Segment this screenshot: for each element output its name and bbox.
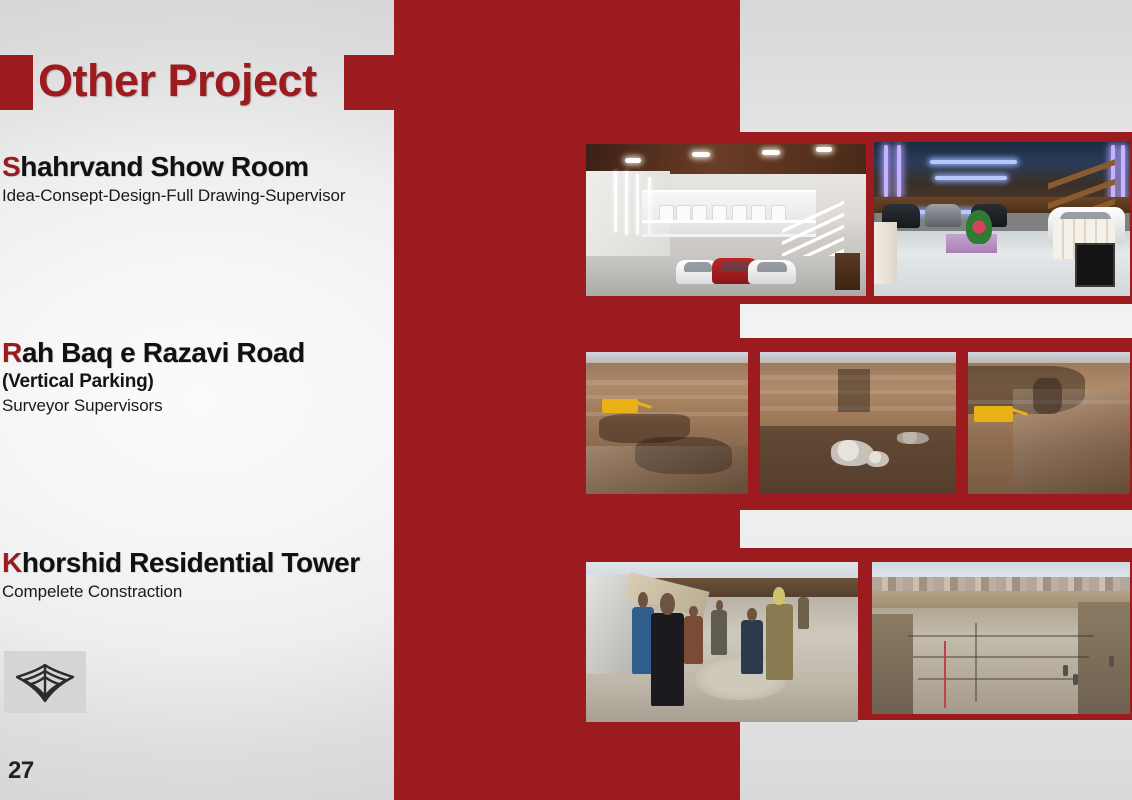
- project-subtitle-khorshid: Compelete Constraction: [2, 580, 394, 603]
- red-title-notch: [344, 55, 400, 110]
- project-initial-letter: S: [2, 151, 20, 182]
- project-initial-letter: K: [2, 547, 22, 578]
- excavation-excavator-photo: [586, 352, 748, 494]
- diamond-logo-icon: [13, 659, 77, 705]
- foundation-slab-photo: [872, 562, 1130, 714]
- project-title-shahrvand: Shahrvand Show Room: [2, 150, 394, 184]
- project-subtitle-bold-rah-baq: (Vertical Parking): [2, 370, 394, 394]
- title-accent-square: [0, 55, 33, 110]
- project-block-shahrvand: Shahrvand Show Room Idea-Consept-Design-…: [2, 150, 394, 207]
- page-number: 27: [8, 757, 34, 785]
- project-title-rest: horshid Residential Tower: [22, 547, 360, 578]
- project-block-rah-baq: Rah Baq e Razavi Road (Vertical Parking)…: [2, 336, 394, 417]
- page-title: Other Project: [38, 50, 317, 112]
- project-title-rest: hahrvand Show Room: [20, 151, 308, 182]
- showroom-interior-photo: [874, 142, 1130, 296]
- project-block-khorshid: Khorshid Residential Tower Compelete Con…: [2, 546, 394, 603]
- project-title-khorshid: Khorshid Residential Tower: [2, 546, 394, 580]
- project-subtitle-rah-baq: Surveyor Supervisors: [2, 394, 394, 417]
- company-logo: [4, 651, 86, 713]
- project-title-rest: ah Baq e Razavi Road: [22, 337, 305, 368]
- project-subtitle-shahrvand: Idea-Consept-Design-Full Drawing-Supervi…: [2, 184, 394, 207]
- showroom-3d-render-photo: [586, 144, 866, 296]
- project-title-rah-baq: Rah Baq e Razavi Road: [2, 336, 394, 370]
- excavation-slope-photo: [968, 352, 1130, 494]
- presentation-slide: Other Project Shahrvand Show Room Idea-C…: [0, 0, 1132, 800]
- concrete-pour-photo: [586, 562, 858, 722]
- excavation-pit-photo: [760, 352, 956, 494]
- project-initial-letter: R: [2, 337, 22, 368]
